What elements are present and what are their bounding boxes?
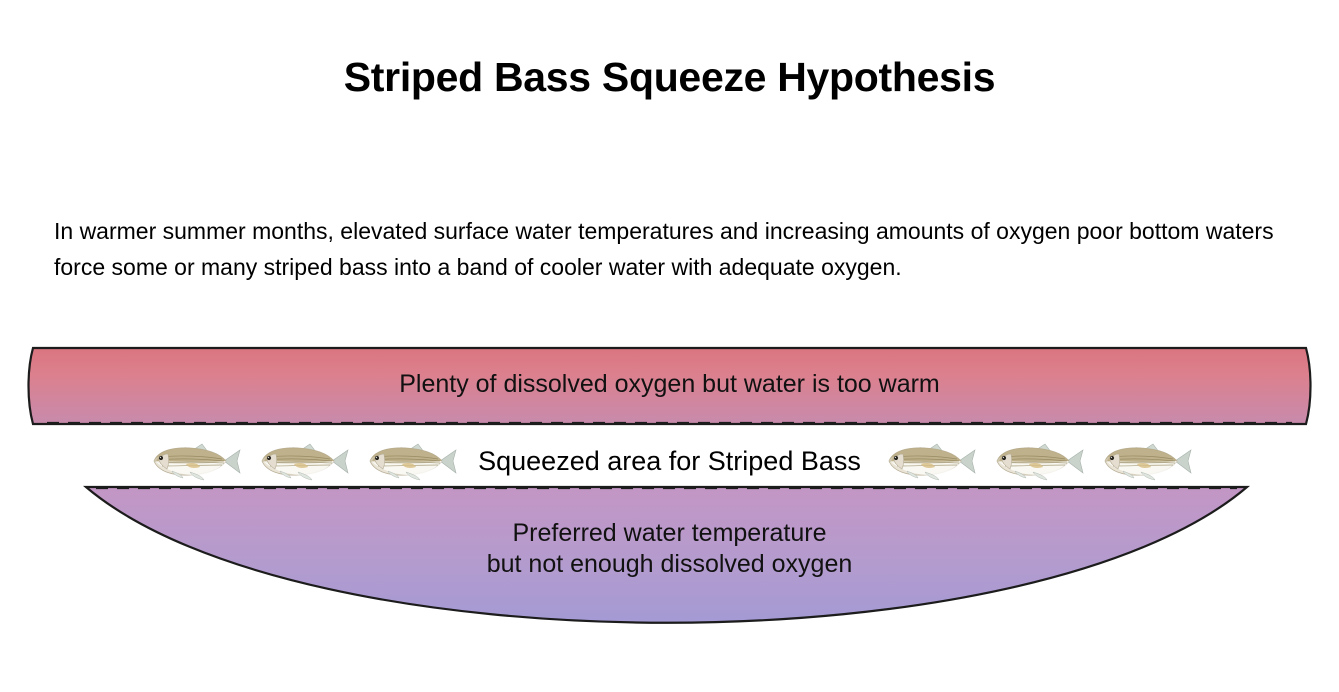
intro-paragraph: In warmer summer months, elevated surfac… bbox=[54, 213, 1294, 285]
squeeze-band-row: Squeezed area for Striped Bass bbox=[0, 436, 1339, 486]
fish-group-left bbox=[140, 440, 464, 482]
cold-layer-shape bbox=[86, 487, 1247, 623]
diagram-shapes bbox=[0, 338, 1339, 658]
striped-bass-fish-icon bbox=[989, 440, 1085, 482]
striped-bass-squeeze-diagram bbox=[0, 338, 1339, 658]
striped-bass-fish-icon bbox=[254, 440, 350, 482]
striped-bass-fish-icon bbox=[1097, 440, 1193, 482]
squeeze-band-label: Squeezed area for Striped Bass bbox=[464, 444, 875, 478]
striped-bass-fish-icon bbox=[362, 440, 458, 482]
page-title: Striped Bass Squeeze Hypothesis bbox=[0, 51, 1339, 103]
fish-group-right bbox=[875, 440, 1199, 482]
warm-layer-shape bbox=[29, 348, 1311, 424]
striped-bass-fish-icon bbox=[146, 440, 242, 482]
striped-bass-fish-icon bbox=[881, 440, 977, 482]
